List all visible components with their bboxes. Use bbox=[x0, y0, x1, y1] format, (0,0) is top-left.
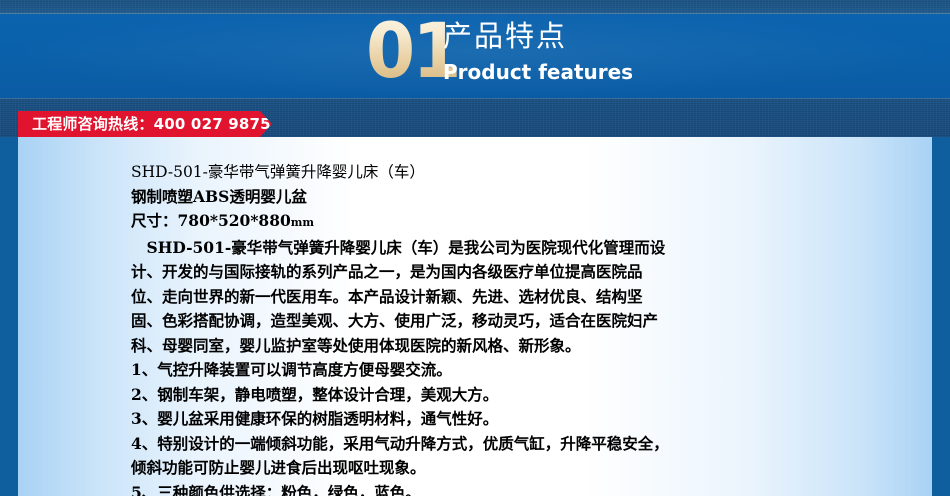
feature-line: 5、三种颜色供选择：粉色，绿色，蓝色。 bbox=[131, 481, 676, 496]
feature-line: 2、钢制车架，静电喷塑，整体设计合理，美观大方。 bbox=[131, 383, 676, 408]
content-panel: SHD-501-豪华带气弹簧升降婴儿床（车） 钢制喷塑ABS透明婴儿盆 尺寸：7… bbox=[18, 137, 932, 496]
product-title-line-1: SHD-501-豪华带气弹簧升降婴儿床（车） bbox=[131, 160, 676, 185]
paragraph-line: 位、走向世界的新一代医用车。本产品设计新颖、先进、选材优良、结构坚 bbox=[131, 285, 676, 310]
feature-line: 1、气控升降装置可以调节高度方便母婴交流。 bbox=[131, 358, 676, 383]
paragraph-line: 科、母婴同室，婴儿监护室等处使用体现医院的新风格、新形象。 bbox=[131, 334, 676, 359]
spec-unit: mm bbox=[291, 216, 314, 229]
spec-label: 尺寸： bbox=[131, 211, 178, 230]
paragraph-line: SHD-501-豪华带气弹簧升降婴儿床（车）是我公司为医院现代化管理而设 bbox=[131, 236, 676, 261]
hotline-ribbon-text: 工程师咨询热线：400 027 9875 bbox=[32, 114, 271, 134]
spec-value: 780*520*880 bbox=[178, 211, 291, 230]
product-spec-line: 尺寸：780*520*880mm bbox=[131, 209, 676, 236]
section-title-en: Product features bbox=[443, 60, 633, 84]
product-title-line-2: 钢制喷塑ABS透明婴儿盆 bbox=[131, 185, 676, 210]
hotline-ribbon: 工程师咨询热线：400 027 9875 bbox=[18, 111, 272, 137]
paragraph-line: 计、开发的与国际接轨的系列产品之一，是为国内各级医疗单位提高医院品 bbox=[131, 260, 676, 285]
product-feature-page: 01 产品特点 Product features 工程师咨询热线：400 027… bbox=[0, 0, 950, 496]
feature-line: 倾斜功能可防止婴儿进食后出现呕吐现象。 bbox=[131, 456, 676, 481]
product-description: SHD-501-豪华带气弹簧升降婴儿床（车） 钢制喷塑ABS透明婴儿盆 尺寸：7… bbox=[131, 160, 676, 496]
section-title-cn: 产品特点 bbox=[443, 19, 567, 53]
feature-line: 3、婴儿盆采用健康环保的树脂透明材料，通气性好。 bbox=[131, 407, 676, 432]
paragraph-line: 固、色彩搭配协调，造型美观、大方、使用广泛，移动灵巧，适合在医院妇产 bbox=[131, 309, 676, 334]
feature-line: 4、特别设计的一端倾斜功能，采用气动升降方式，优质气缸，升降平稳安全， bbox=[131, 432, 676, 457]
